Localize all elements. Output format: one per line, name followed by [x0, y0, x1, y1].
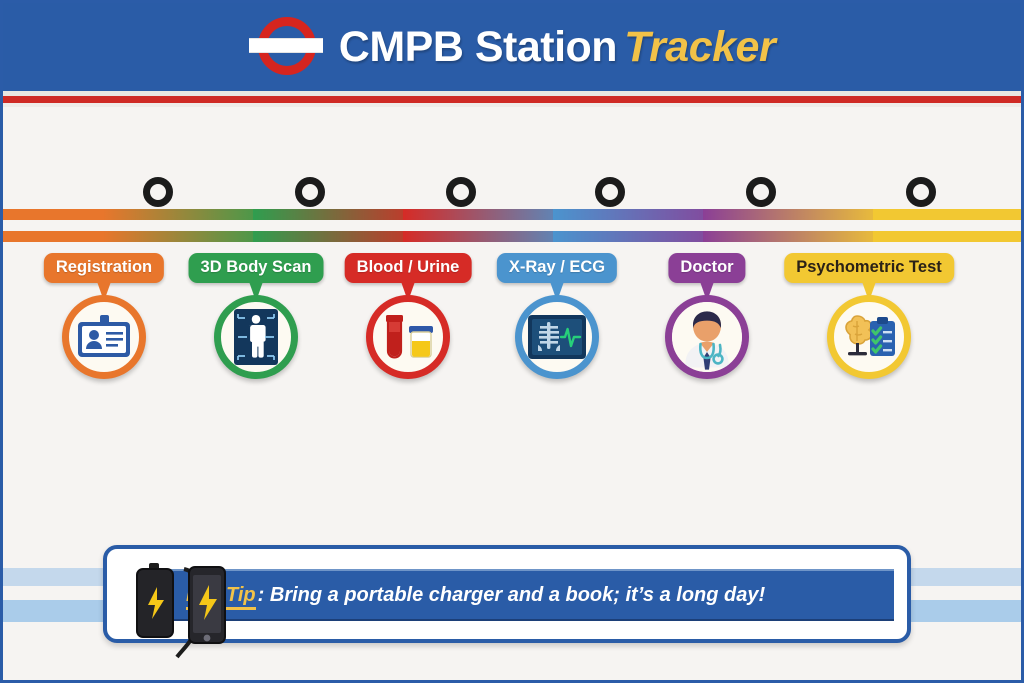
interchange-connector [143, 177, 173, 207]
roundel-bar [249, 38, 323, 53]
station-node-psychometric[interactable] [827, 295, 911, 379]
cmpb-station-tracker-page: CMPB StationTracker [0, 0, 1024, 683]
xray-ecg-icon [526, 306, 588, 368]
interchange-connector [295, 177, 325, 207]
station-node-registration[interactable] [62, 295, 146, 379]
station-node-body-scan[interactable] [214, 295, 298, 379]
interchange-connector [746, 177, 776, 207]
doctor-icon [672, 302, 742, 372]
protip-message: Bring a portable charger and a book; it’… [270, 584, 765, 606]
station-xray-ecg[interactable]: X-Ray / ECG [482, 253, 632, 283]
station-registration[interactable]: Registration [29, 253, 179, 283]
station-label-xray-ecg: X-Ray / ECG [497, 253, 617, 283]
page-header: CMPB StationTracker [3, 3, 1021, 91]
station-node-blood-urine[interactable] [366, 295, 450, 379]
body-scan-icon [225, 306, 287, 368]
interchange-connector [906, 177, 936, 207]
header-divider-red [3, 96, 1021, 103]
blood-urine-sample-icon [377, 306, 439, 368]
interchange-connector [595, 177, 625, 207]
station-label-psychometric: Psychometric Test [784, 253, 954, 283]
brain-checklist-icon [838, 306, 900, 368]
station-doctor[interactable]: Doctor [632, 253, 782, 283]
charging-phone-icon [189, 567, 225, 643]
station-node-xray-ecg[interactable] [515, 295, 599, 379]
station-label-body-scan: 3D Body Scan [189, 253, 324, 283]
page-title-main: CMPB Station [339, 23, 617, 71]
page-title: CMPB StationTracker [339, 23, 775, 72]
station-node-doctor[interactable] [665, 295, 749, 379]
charging-devices-illustration [121, 553, 281, 663]
metro-map: Registration [3, 107, 1024, 527]
station-blood-urine[interactable]: Blood / Urine [333, 253, 483, 283]
power-bank-icon [137, 563, 173, 637]
station-body-scan[interactable]: 3D Body Scan [181, 253, 331, 283]
station-psychometric[interactable]: Psychometric Test [794, 253, 944, 283]
station-label-blood-urine: Blood / Urine [345, 253, 472, 283]
id-badge-icon [73, 306, 135, 368]
interchange-connector [446, 177, 476, 207]
tube-roundel-icon [249, 15, 323, 79]
station-label-registration: Registration [44, 253, 164, 283]
page-title-accent: Tracker [617, 23, 775, 71]
station-label-doctor: Doctor [668, 253, 745, 283]
